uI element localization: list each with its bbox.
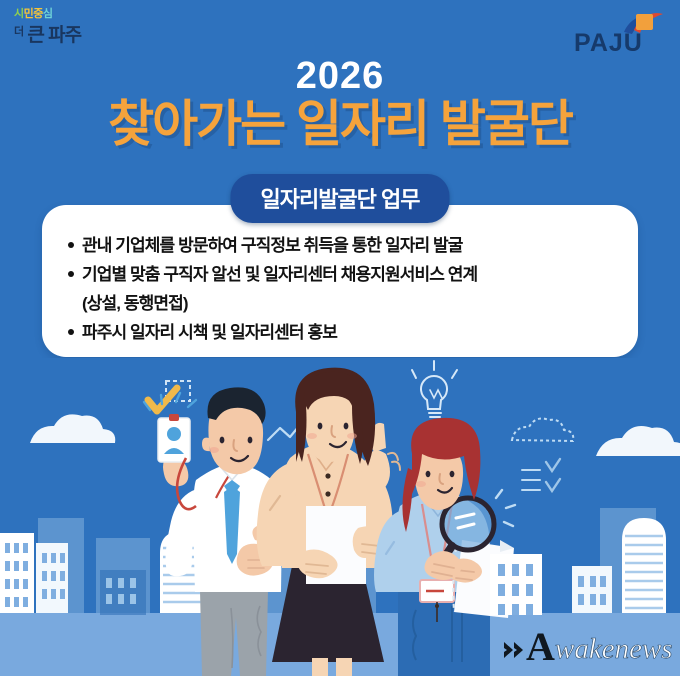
list-item-label: 관내 기업체를 방문하여 구직정보 취득을 통한 일자리 발굴 [82,233,463,258]
chevrons-icon [504,642,523,658]
city-logo-slogan-line: 시민중심 [14,8,134,20]
city-logo-name-prefix: 더 [14,26,23,38]
list-item: 관내 기업체를 방문하여 구직정보 취득을 통한 일자리 발굴 [68,233,614,258]
awakenews-logo-svg: A wakenews [502,620,672,666]
list-item-label: 기업별 맞춤 구직자 알선 및 일자리센터 채용지원서비스 연계 [82,262,477,287]
list-item-label: 파주시 일자리 시책 및 일자리센터 홍보 [82,320,337,345]
bullet-dot-icon [68,242,74,248]
list-item-subnote: (상설, 동행면접) [82,291,614,316]
list-item: 파주시 일자리 시책 및 일자리센터 홍보 [68,320,614,345]
section-badge: 일자리발굴단 업무 [230,174,449,223]
poster-headline: 찾아가는 일자리 발굴단 [0,95,680,153]
duties-card: 관내 기업체를 방문하여 구직정보 취득을 통한 일자리 발굴 기업별 맞춤 구… [42,205,638,357]
awakenews-letter: A [526,624,555,666]
poster-root: 시민중심 더 큰 파주 PAJU 2026 찾아가는 일자리 발굴단 일자리발굴… [0,0,680,676]
city-logo-name-main: 큰 파주 [27,25,81,46]
paju-brand-logo: PAJU [574,10,666,56]
bullet-dot-icon [68,329,74,335]
city-logo-slogan-seg2: 민중 [24,8,43,20]
awakenews-watermark: A wakenews [502,620,672,666]
city-logo-slogan-seg3: 심 [43,8,53,20]
city-logo-slogan-seg1: 시 [14,8,24,20]
paju-logo-text: PAJU [574,30,643,56]
bullet-dot-icon [68,271,74,277]
list-item: 기업별 맞춤 구직자 알선 및 일자리센터 채용지원서비스 연계 [68,262,614,287]
awakenews-text: wakenews [555,633,672,665]
city-logo-name-line: 더 큰 파주 [14,22,134,46]
paju-city-slogan-logo: 시민중심 더 큰 파주 [14,8,134,56]
poster-year: 2026 [0,56,680,96]
